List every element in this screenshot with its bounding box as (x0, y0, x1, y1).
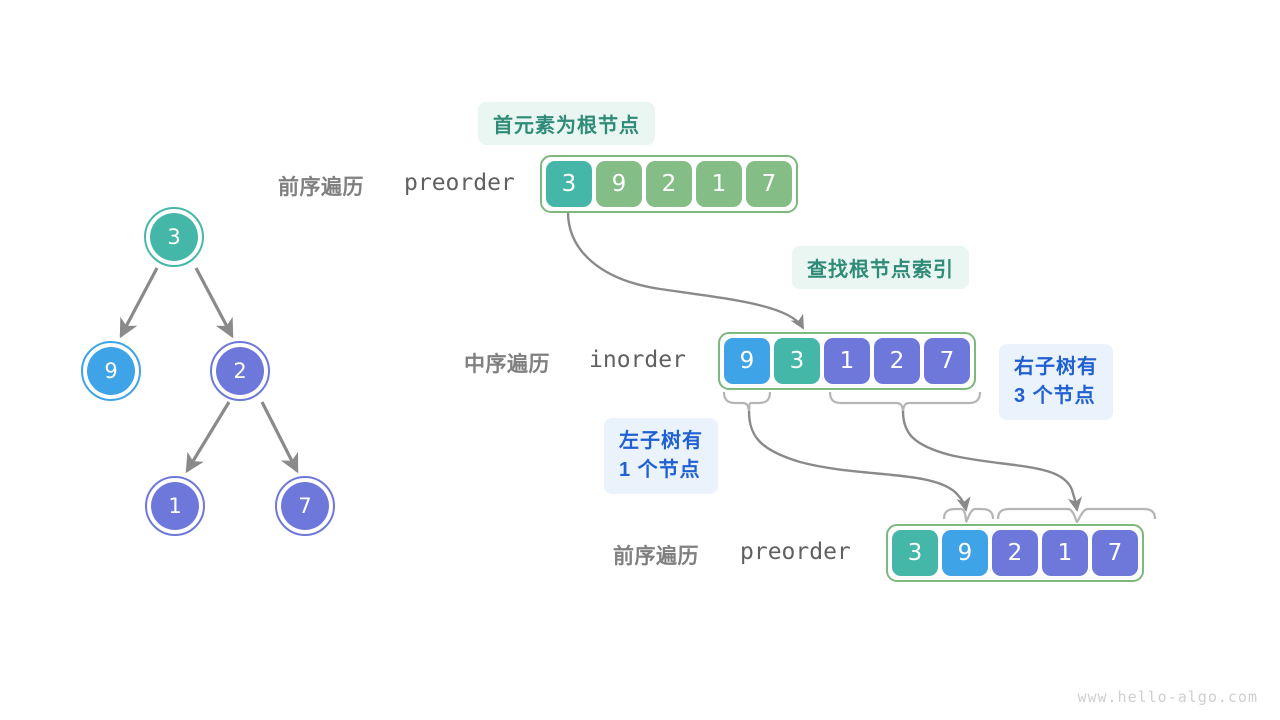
array-cell[interactable]: 1 (1042, 530, 1088, 576)
array-cell[interactable]: 3 (774, 338, 820, 384)
brace-preorder-left (944, 509, 993, 522)
arrow-left-subtree (749, 411, 966, 510)
tree-node-9: 9 (87, 347, 135, 395)
array-cell[interactable]: 3 (892, 530, 938, 576)
row-label-cn-preorder-bottom: 前序遍历 (613, 540, 699, 570)
callout-text-line2: 1 个节点 (619, 456, 703, 485)
array-preorder-top: 39217 (540, 155, 798, 213)
array-cell[interactable]: 2 (874, 338, 920, 384)
array-cell[interactable]: 2 (992, 530, 1038, 576)
arrow-root-to-inorder (568, 212, 803, 328)
tree-node-2: 2 (216, 347, 264, 395)
tree-edge-3-9 (121, 268, 157, 336)
callout-left-subtree-size: 左子树有 1 个节点 (604, 418, 718, 494)
callout-text: 首元素为根节点 (493, 109, 640, 138)
array-cell[interactable]: 7 (924, 338, 970, 384)
tree-node-7: 7 (281, 482, 329, 530)
array-cell[interactable]: 7 (1092, 530, 1138, 576)
arrow-right-subtree (903, 411, 1077, 510)
array-cell[interactable]: 1 (696, 161, 742, 207)
callout-text-line2: 3 个节点 (1014, 382, 1098, 411)
array-cell[interactable]: 2 (646, 161, 692, 207)
callout-text-line1: 左子树有 (619, 427, 703, 456)
diagram-canvas: 39217 前序遍历preorder39217中序遍历inorder93127前… (0, 0, 1280, 720)
tree-node-1: 1 (151, 482, 199, 530)
row-label-cn-preorder-top: 前序遍历 (278, 171, 364, 201)
row-label-en-preorder-top: preorder (404, 170, 515, 196)
brace-preorder-right (998, 509, 1155, 522)
tree-edge-3-2 (196, 268, 232, 336)
callout-first-element-is-root: 首元素为根节点 (478, 102, 655, 145)
row-label-cn-inorder: 中序遍历 (464, 348, 550, 378)
array-cell[interactable]: 9 (596, 161, 642, 207)
callout-right-subtree-size: 右子树有 3 个节点 (999, 344, 1113, 420)
array-cell[interactable]: 1 (824, 338, 870, 384)
callout-text-line1: 右子树有 (1014, 353, 1098, 382)
tree-edge-2-1 (187, 402, 229, 471)
brace-inorder-right (830, 392, 980, 411)
callout-text: 查找根节点索引 (807, 253, 954, 282)
site-watermark: www.hello-algo.com (1077, 688, 1258, 706)
array-cell[interactable]: 9 (724, 338, 770, 384)
array-inorder: 93127 (718, 332, 976, 390)
row-label-en-inorder: inorder (589, 347, 686, 373)
callout-find-root-index: 查找根节点索引 (792, 246, 969, 289)
tree-edges (121, 268, 297, 471)
array-cell[interactable]: 3 (546, 161, 592, 207)
row-label-en-preorder-bottom: preorder (740, 539, 851, 565)
tree-edge-2-7 (262, 402, 297, 471)
tree-node-3: 3 (150, 213, 198, 261)
array-cell[interactable]: 9 (942, 530, 988, 576)
array-cell[interactable]: 7 (746, 161, 792, 207)
array-preorder-bottom: 39217 (886, 524, 1144, 582)
brace-inorder-left (724, 392, 770, 411)
